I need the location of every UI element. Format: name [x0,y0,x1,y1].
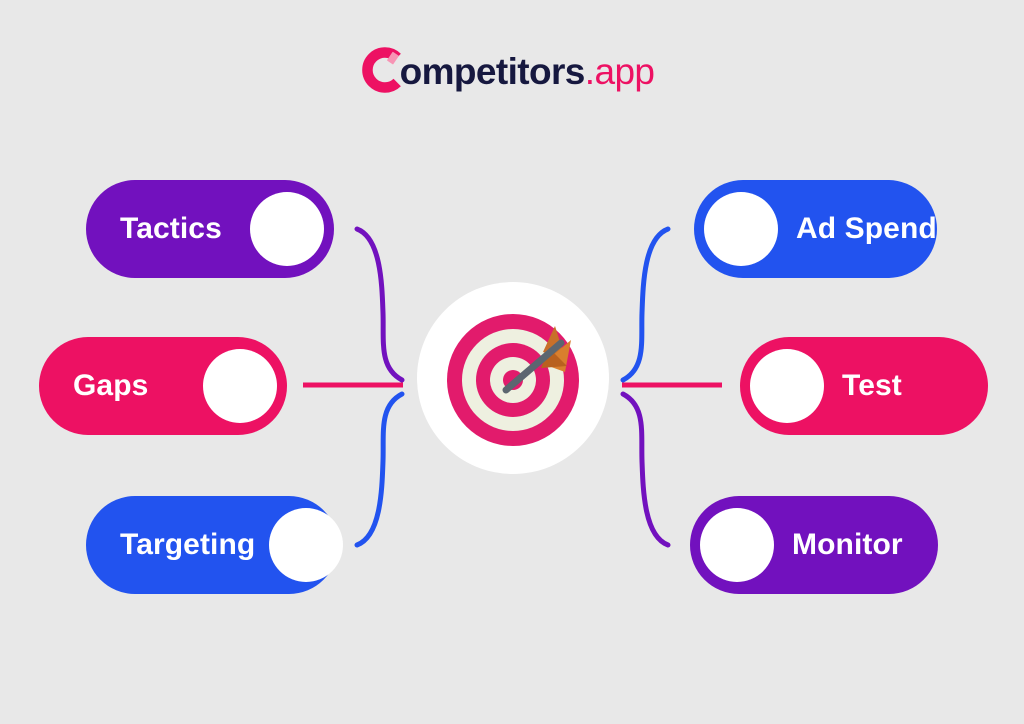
connector-monitor [623,394,668,545]
pill-test-label: Test [842,371,902,401]
brand-wordmark-primary: ompetitors [400,51,585,92]
pill-targeting-knob[interactable] [269,508,343,582]
pill-gaps[interactable]: Gaps [39,337,287,435]
pill-monitor-label: Monitor [792,530,903,560]
brand-wordmark: ompetitors.app [400,53,655,90]
pill-targeting-label: Targeting [120,530,255,560]
connector-targeting [357,394,402,545]
pill-test-knob[interactable] [750,349,824,423]
pill-tactics[interactable]: Tactics [86,180,334,278]
center-target-node [417,282,609,474]
pill-ad-spend[interactable]: Ad Spend [694,180,937,278]
pill-tactics-knob[interactable] [250,192,324,266]
pill-ad-spend-label: Ad Spend [796,214,937,244]
target-bullseye-arrow-icon [443,310,583,450]
pill-monitor[interactable]: Monitor [690,496,938,594]
pill-gaps-label: Gaps [73,371,148,401]
brand-logo: ompetitors.app [0,45,1024,95]
pill-tactics-label: Tactics [120,214,222,244]
pill-ad-spend-knob[interactable] [704,192,778,266]
connector-ad-spend [623,229,668,380]
pill-monitor-knob[interactable] [700,508,774,582]
pill-gaps-knob[interactable] [203,349,277,423]
connector-tactics [357,229,402,380]
brand-wordmark-suffix: .app [585,51,655,92]
mindmap-canvas: ompetitors.app [0,0,1024,724]
pill-targeting[interactable]: Targeting [86,496,338,594]
pill-test[interactable]: Test [740,337,988,435]
